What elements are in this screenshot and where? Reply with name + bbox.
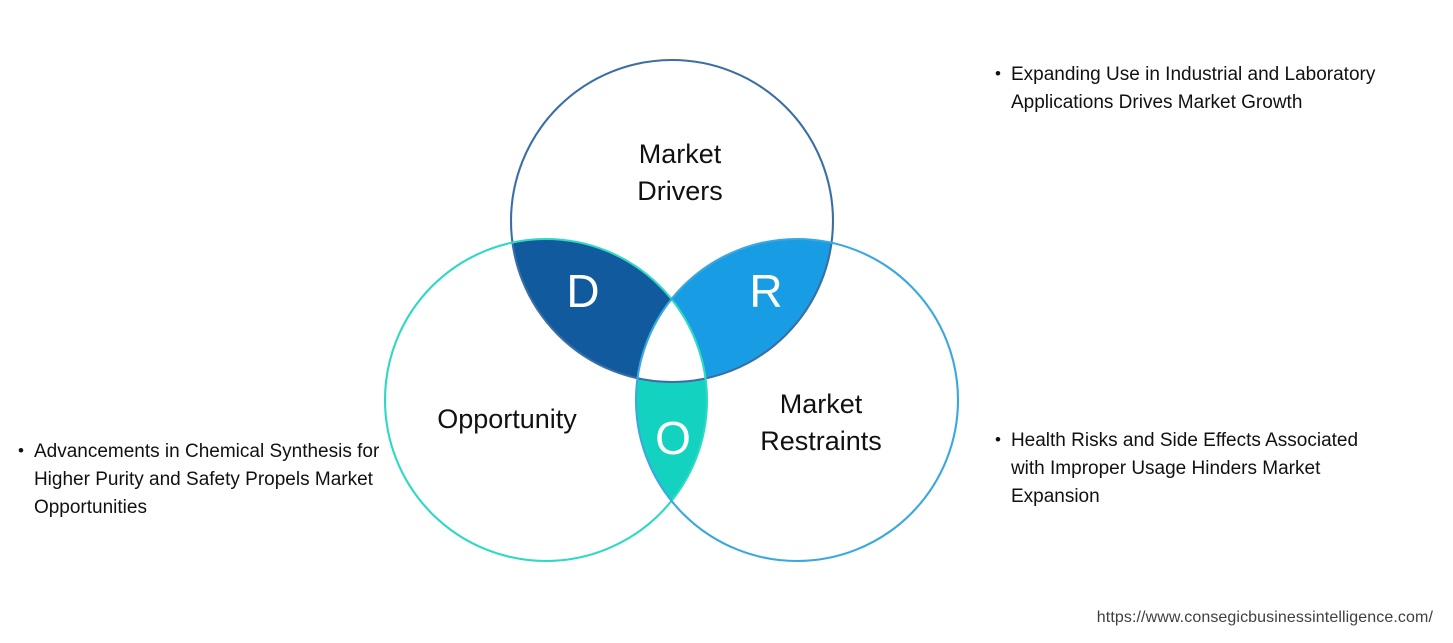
- source-url[interactable]: https://www.consegicbusinessintelligence…: [1097, 609, 1433, 627]
- lens-letter-r: R: [749, 265, 782, 317]
- lens-letter-d: D: [566, 265, 599, 317]
- callout-opportunity-text: Advancements in Chemical Synthesis for H…: [34, 438, 403, 522]
- set-label-restraints-line1: Market: [780, 389, 863, 419]
- venn-svg: Market Drivers Opportunity Market Restra…: [355, 35, 995, 595]
- callout-opportunity: • Advancements in Chemical Synthesis for…: [18, 438, 403, 522]
- callout-market-drivers: • Expanding Use in Industrial and Labora…: [995, 61, 1395, 117]
- diagram-canvas: Market Drivers Opportunity Market Restra…: [0, 0, 1453, 643]
- set-label-drivers-line1: Market: [639, 139, 722, 169]
- set-label-opportunity: Opportunity: [437, 404, 577, 434]
- callout-market-drivers-text: Expanding Use in Industrial and Laborato…: [1011, 61, 1395, 117]
- venn-diagram: Market Drivers Opportunity Market Restra…: [355, 35, 995, 595]
- callout-market-restraints: • Health Risks and Side Effects Associat…: [995, 427, 1395, 511]
- bullet-icon: •: [18, 438, 24, 463]
- bullet-icon: •: [995, 61, 1001, 86]
- set-label-restraints-line2: Restraints: [760, 426, 882, 456]
- lens-letter-o: O: [655, 412, 691, 464]
- callout-market-restraints-text: Health Risks and Side Effects Associated…: [1011, 427, 1395, 511]
- bullet-icon: •: [995, 427, 1001, 452]
- set-label-drivers-line2: Drivers: [637, 176, 723, 206]
